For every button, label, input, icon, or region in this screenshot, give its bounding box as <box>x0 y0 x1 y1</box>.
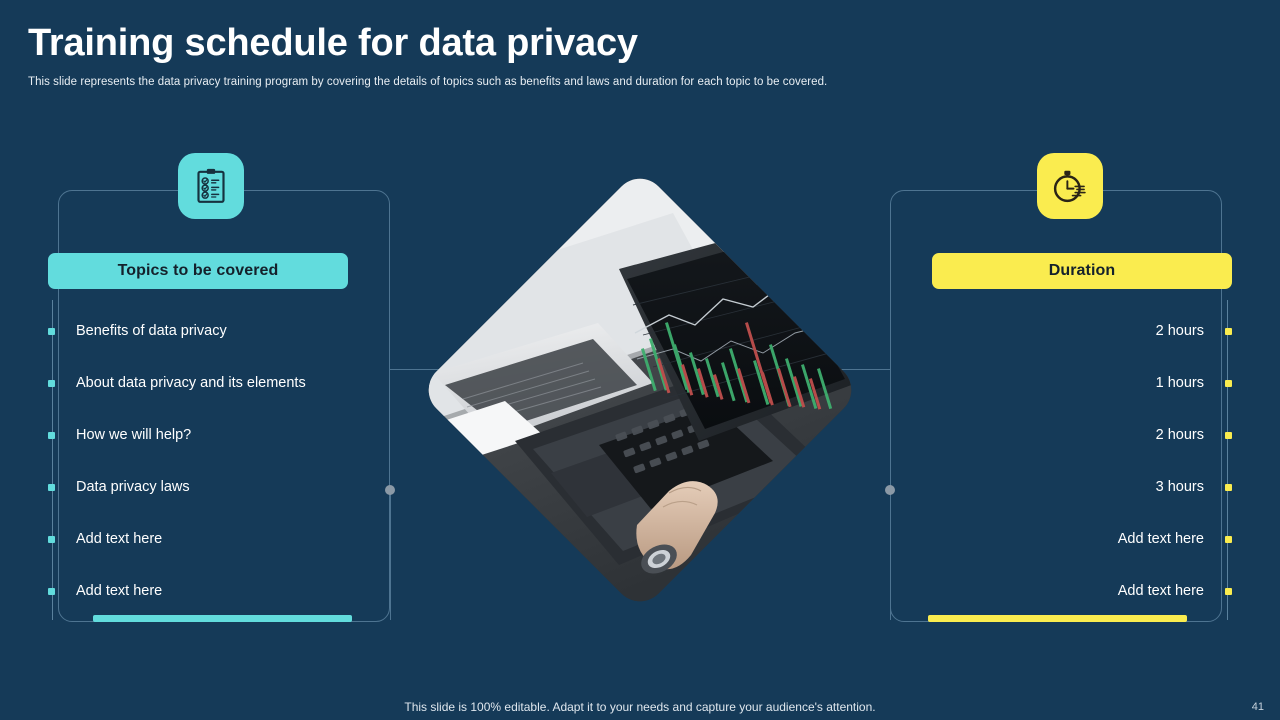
list-item[interactable]: Add text here <box>932 513 1232 565</box>
connector-left-stub <box>390 490 391 620</box>
clipboard-checklist-icon <box>178 153 244 219</box>
list-item-label: About data privacy and its elements <box>76 375 306 391</box>
duration-heading: Duration <box>932 253 1232 289</box>
list-item-label: Add text here <box>1118 531 1204 547</box>
slide-root: Training schedule for data privacy This … <box>0 0 1280 720</box>
list-item[interactable]: Data privacy laws <box>48 461 348 513</box>
bullet-icon <box>1225 328 1232 335</box>
bullet-icon <box>48 328 55 335</box>
list-item[interactable]: 1 hours <box>932 357 1232 409</box>
bullet-icon <box>1225 380 1232 387</box>
page-number: 41 <box>1252 701 1264 713</box>
list-item[interactable]: Add text here <box>48 513 348 565</box>
list-item-label: Add text here <box>1118 583 1204 599</box>
list-item-label: Add text here <box>76 531 162 547</box>
duration-list: 2 hours 1 hours 2 hours 3 hours Add text… <box>932 305 1232 617</box>
list-item-label: Add text here <box>76 583 162 599</box>
footer-note: This slide is 100% editable. Adapt it to… <box>0 700 1280 714</box>
topics-heading: Topics to be covered <box>48 253 348 289</box>
list-item-label: 3 hours <box>1156 479 1204 495</box>
topics-list: Benefits of data privacy About data priv… <box>48 305 348 617</box>
page-title: Training schedule for data privacy <box>28 22 638 65</box>
connector-dot-left <box>385 485 395 495</box>
list-item-label: 2 hours <box>1156 427 1204 443</box>
center-image-block <box>455 205 825 575</box>
list-item[interactable]: 3 hours <box>932 461 1232 513</box>
bullet-icon <box>48 588 55 595</box>
list-item-label: 1 hours <box>1156 375 1204 391</box>
list-item[interactable]: About data privacy and its elements <box>48 357 348 409</box>
bullet-icon <box>48 536 55 543</box>
list-item[interactable]: How we will help? <box>48 409 348 461</box>
list-item-label: 2 hours <box>1156 323 1204 339</box>
list-item-label: Data privacy laws <box>76 479 190 495</box>
stopwatch-icon <box>1037 153 1103 219</box>
list-item[interactable]: 2 hours <box>932 409 1232 461</box>
bullet-icon <box>48 432 55 439</box>
list-item-label: Benefits of data privacy <box>76 323 227 339</box>
list-item[interactable]: Add text here <box>48 565 348 617</box>
list-item[interactable]: 2 hours <box>932 305 1232 357</box>
bullet-icon <box>48 484 55 491</box>
bullet-icon <box>48 380 55 387</box>
list-item[interactable]: Add text here <box>932 565 1232 617</box>
bullet-icon <box>1225 484 1232 491</box>
list-item-label: How we will help? <box>76 427 191 443</box>
page-subtitle: This slide represents the data privacy t… <box>28 76 827 88</box>
bullet-icon <box>1225 588 1232 595</box>
list-item[interactable]: Benefits of data privacy <box>48 305 348 357</box>
connector-dot-right <box>885 485 895 495</box>
bullet-icon <box>1225 536 1232 543</box>
connector-right-stub <box>890 490 891 620</box>
bullet-icon <box>1225 432 1232 439</box>
